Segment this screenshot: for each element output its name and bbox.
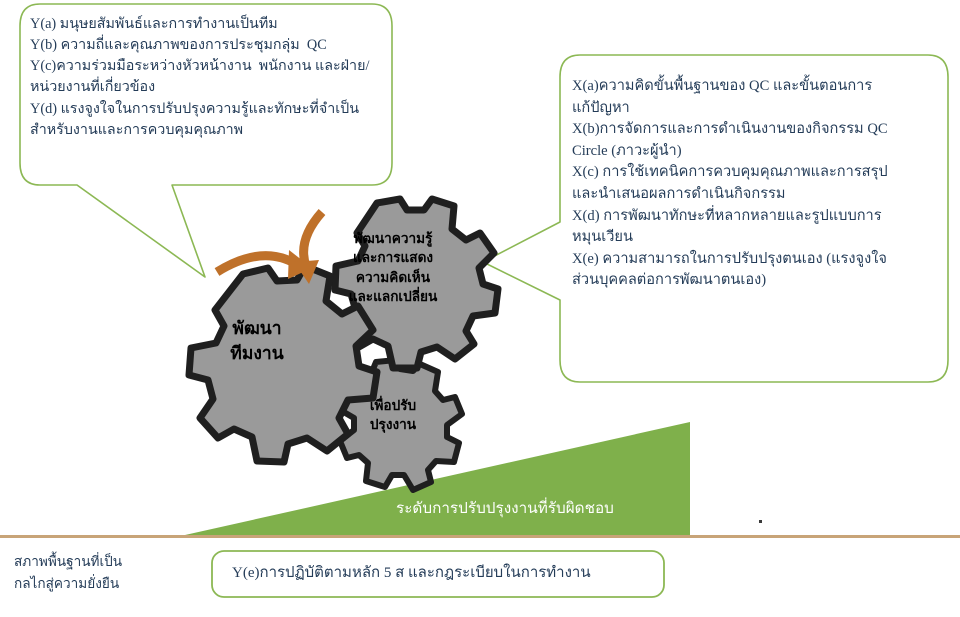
callout-left-text: Y(a) มนุษยสัมพันธ์และการทำงานเป็นทีม Y(b… [30, 14, 370, 141]
stray-dot-mark [759, 520, 762, 523]
triangle-label: ระดับการปรับปรุงงานที่รับผิดชอบ [396, 498, 686, 521]
callout-right-text: X(a)ความคิดขั้นพื้นฐานของ QC และขั้นตอนก… [572, 76, 928, 292]
gear-label-improve-work: เพื่อปรับ ปรุงงาน [347, 396, 439, 435]
gear-label-develop-team: พัฒนา ทีมงาน [196, 316, 318, 366]
footer-box-label: Y(e)การปฏิบัติตามหลัก 5 ส และกฎระเบียบใน… [232, 562, 662, 584]
baseline-label: สภาพพื้นฐานที่เป็น กลไกสู่ความยั่งยืน [14, 551, 194, 595]
diagram-canvas: Y(a) มนุษยสัมพันธ์และการทำงานเป็นทีม Y(b… [0, 0, 960, 617]
gear-label-develop-knowledge: พัฒนาความรู้ และการแสดง ความคิดเห็น และแ… [333, 229, 453, 306]
